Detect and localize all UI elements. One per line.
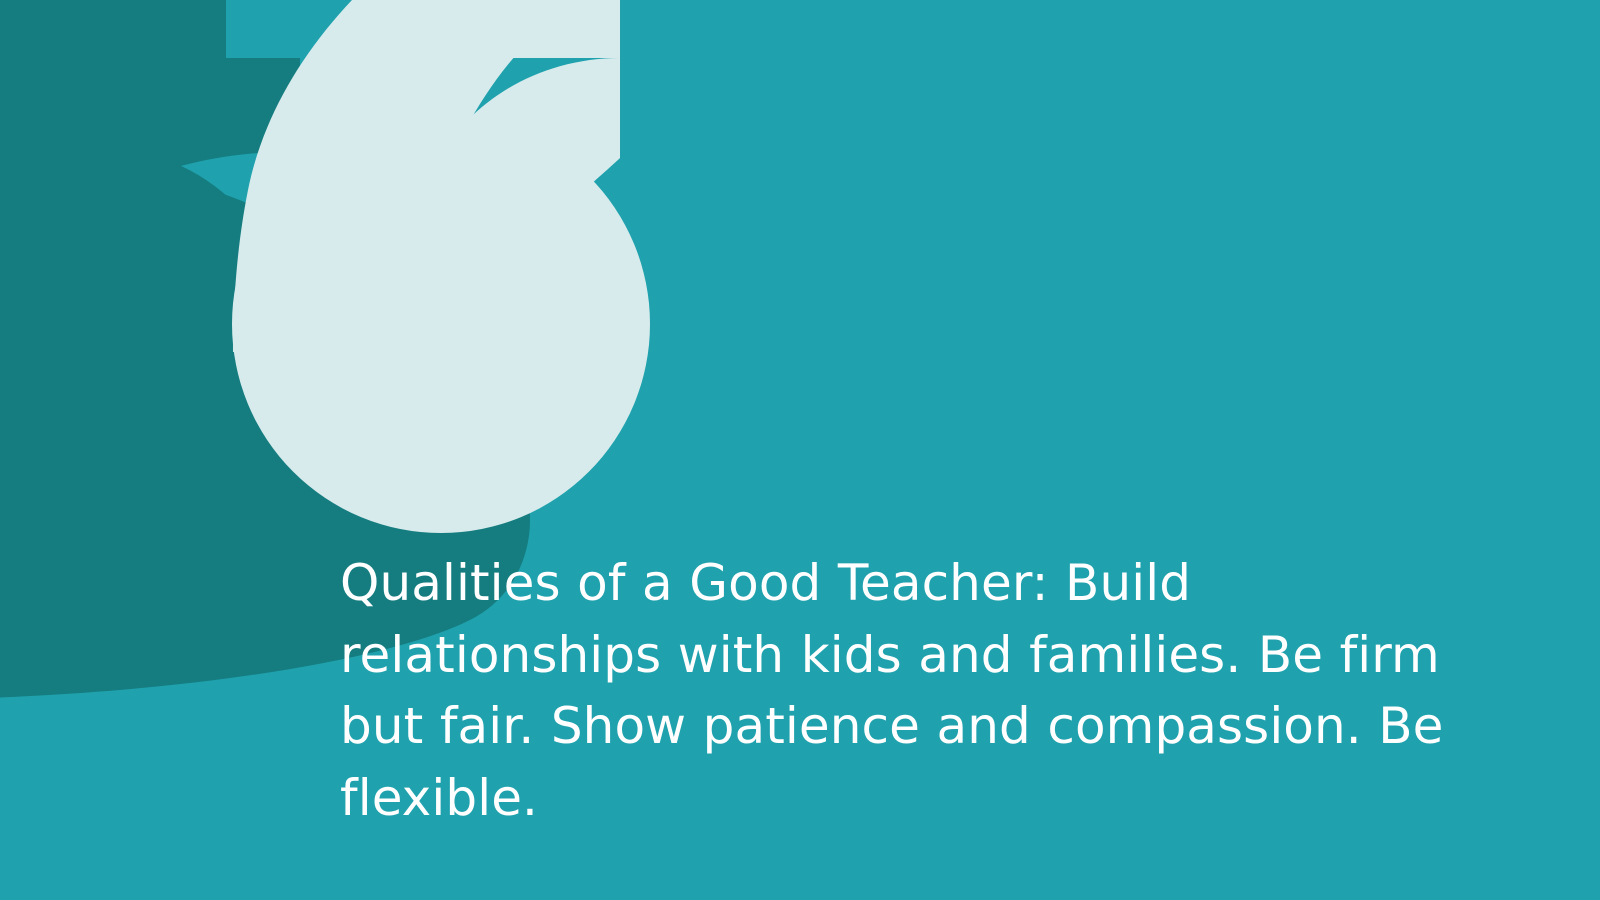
numeral-6-bowl bbox=[232, 115, 650, 533]
numeral-digit-6 bbox=[232, 0, 650, 533]
quote-text-block: Qualities of a Good Teacher: Build relat… bbox=[340, 548, 1492, 834]
numeral-5-bowl bbox=[0, 148, 292, 532]
quote-body-text: Qualities of a Good Teacher: Build relat… bbox=[340, 548, 1492, 834]
quote-card: Qualities of a Good Teacher: Build relat… bbox=[0, 0, 1600, 900]
